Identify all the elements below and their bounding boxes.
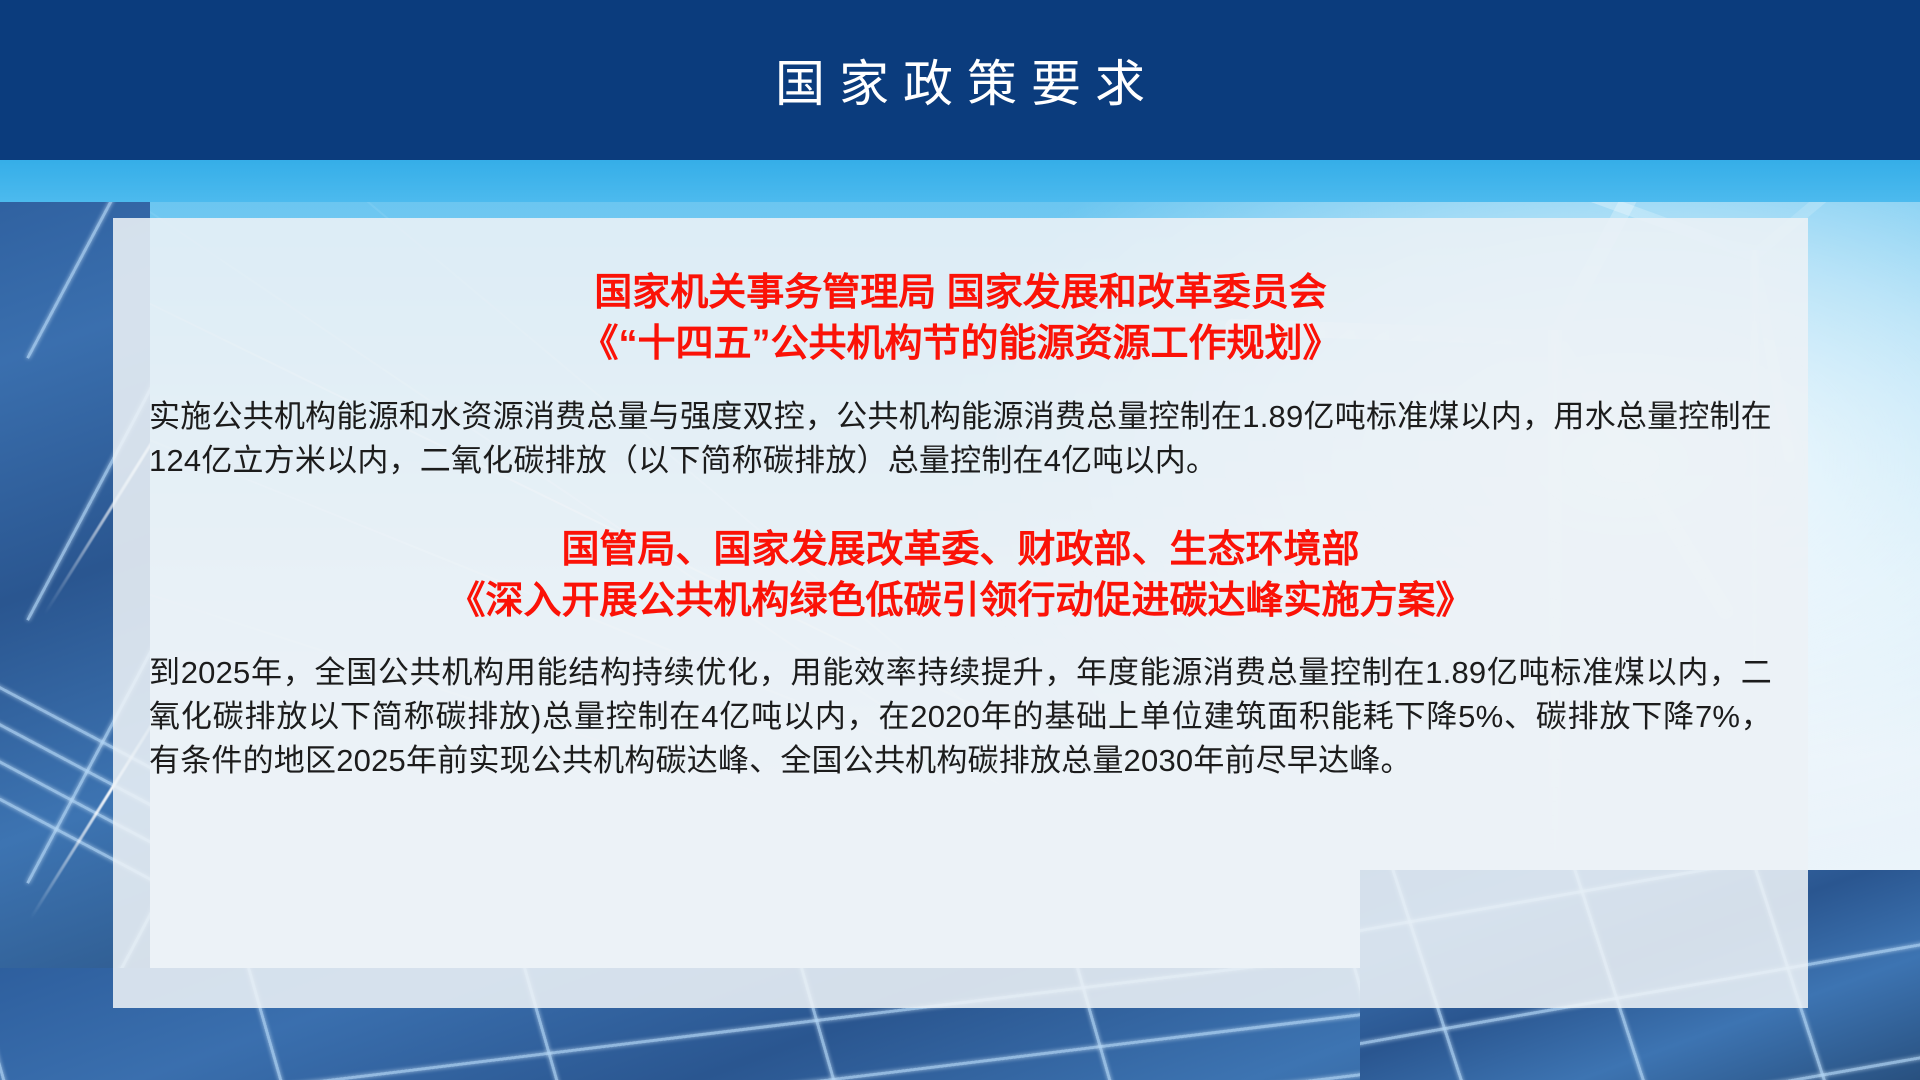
policy-content-card: 国家机关事务管理局 国家发展和改革委员会 《“十四五”公共机构节的能源资源工作规… bbox=[113, 218, 1808, 1008]
policy-section-1: 国家机关事务管理局 国家发展和改革委员会 《“十四五”公共机构节的能源资源工作规… bbox=[139, 268, 1782, 371]
header-accent-strip bbox=[0, 160, 1920, 202]
policy-section-2-heading-line1: 国管局、国家发展改革委、财政部、生态环境部 bbox=[561, 529, 1359, 571]
policy-section-1-heading-line2: 《“十四五”公共机构节的能源资源工作规划》 bbox=[139, 319, 1782, 370]
policy-section-2-heading-line2: 《深入开展公共机构绿色低碳引领行动促进碳达峰实施方案》 bbox=[139, 576, 1782, 627]
header-bar: 国家政策要求 bbox=[0, 0, 1920, 160]
policy-section-2: 国管局、国家发展改革委、财政部、生态环境部 《深入开展公共机构绿色低碳引领行动促… bbox=[139, 525, 1782, 628]
policy-section-1-body: 实施公共机构能源和水资源消费总量与强度双控，公共机构能源消费总量控制在1.89亿… bbox=[139, 395, 1782, 483]
policy-section-2-heading: 国管局、国家发展改革委、财政部、生态环境部 《深入开展公共机构绿色低碳引领行动促… bbox=[139, 525, 1782, 628]
policy-section-1-heading: 国家机关事务管理局 国家发展和改革委员会 《“十四五”公共机构节的能源资源工作规… bbox=[139, 268, 1782, 371]
policy-section-2-body: 到2025年，全国公共机构用能结构持续优化，用能效率持续提升，年度能源消费总量控… bbox=[139, 651, 1782, 783]
policy-section-1-heading-line1: 国家机关事务管理局 国家发展和改革委员会 bbox=[594, 272, 1327, 314]
page-title: 国家政策要求 bbox=[761, 44, 1159, 116]
